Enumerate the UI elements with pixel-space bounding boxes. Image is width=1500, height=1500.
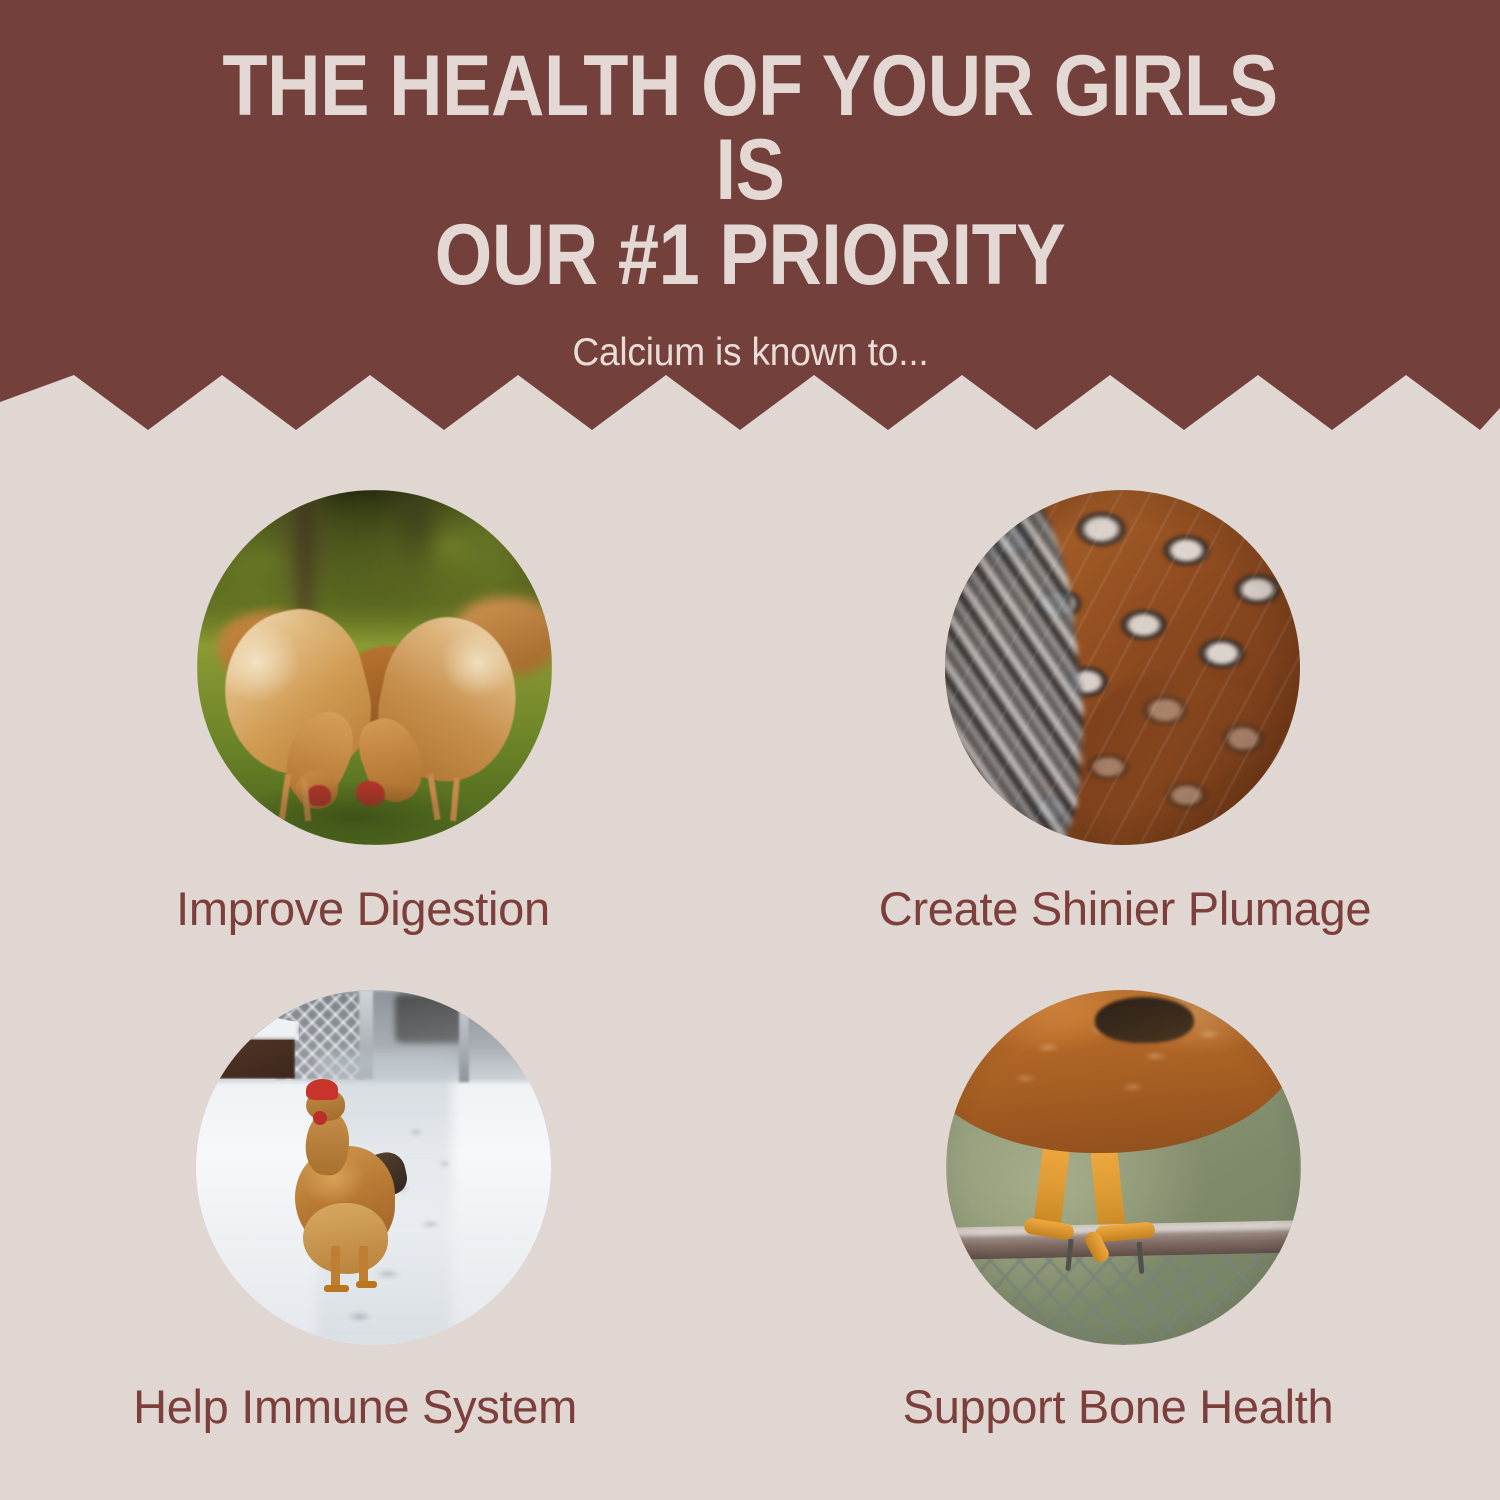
barred-feathers-closeup-photo (945, 490, 1300, 845)
page-subtitle: Calcium is known to... (572, 331, 928, 375)
benefit-card-digestion: Improve Digestion (0, 430, 750, 965)
hen-standing-in-snow-photo (196, 990, 551, 1345)
benefit-card-bone: Support Bone Health (750, 930, 1500, 1465)
zigzag-divider-icon (0, 372, 1500, 430)
hens-foraging-on-grass-photo (197, 490, 552, 845)
benefits-grid: Improve Digestion Create Shinier Plumage (0, 430, 1500, 1500)
page-title: THE HEALTH OF YOUR GIRLS IS OUR #1 PRIOR… (208, 44, 1292, 297)
benefit-card-plumage: Create Shinier Plumage (750, 430, 1500, 965)
header-banner: THE HEALTH OF YOUR GIRLS IS OUR #1 PRIOR… (0, 0, 1500, 430)
benefit-label-plumage: Create Shinier Plumage (879, 881, 1371, 936)
benefit-label-immune: Help Immune System (133, 1379, 577, 1434)
benefit-label-bone: Support Bone Health (903, 1379, 1334, 1434)
benefit-label-digestion: Improve Digestion (176, 881, 550, 936)
chicken-feet-gripping-fence-photo (946, 990, 1301, 1345)
benefit-card-immune: Help Immune System (0, 930, 750, 1465)
header-content: THE HEALTH OF YOUR GIRLS IS OUR #1 PRIOR… (0, 0, 1500, 375)
